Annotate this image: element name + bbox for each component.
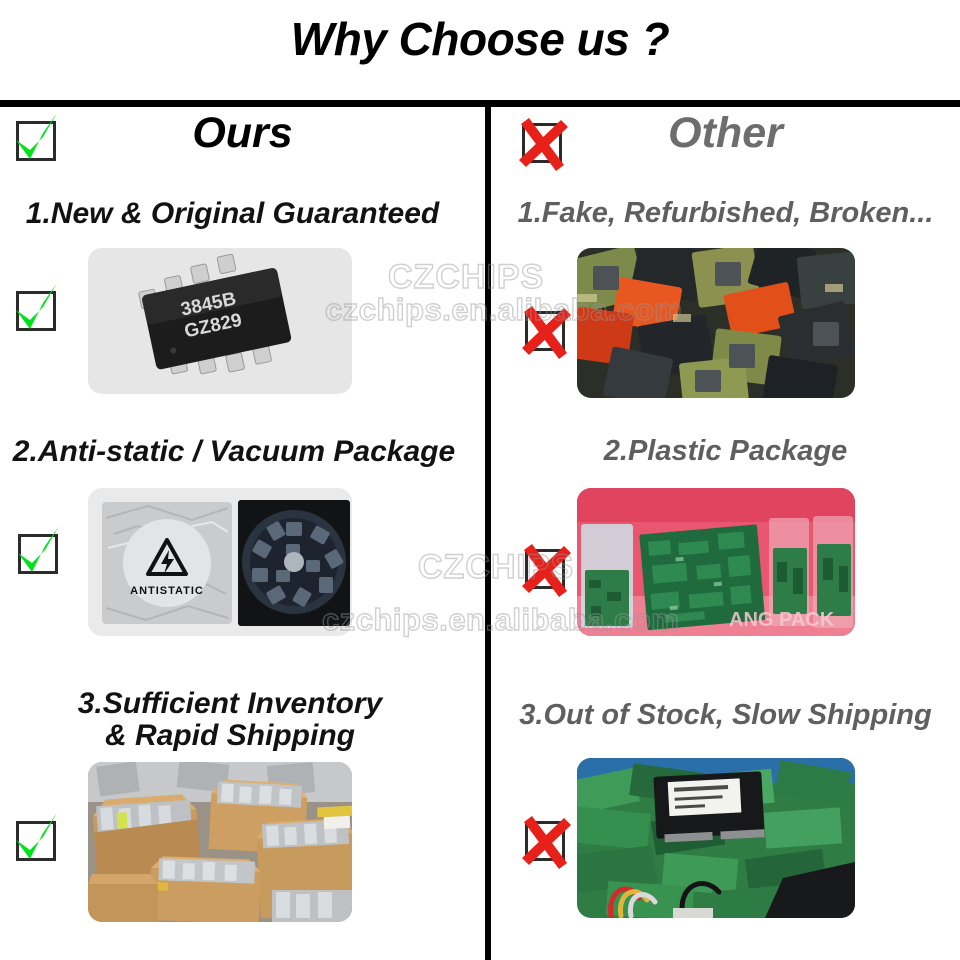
row-3-title-ours-line2: & Rapid Shipping [0, 720, 460, 752]
row-3-title-ours-line1: 3.Sufficient Inventory [0, 688, 460, 720]
page-title: Why Choose us ? [0, 12, 960, 66]
svg-text:ANG PACK: ANG PACK [729, 609, 835, 631]
watermark-brand: CZCHIPS [388, 258, 544, 297]
comparison-infographic: Why Choose us ? Ours Other 1.New & Origi… [0, 0, 960, 960]
column-label-other: Other [491, 109, 960, 158]
column-header-other: Other [491, 107, 960, 179]
row-3-title-other: 3.Out of Stock, Slow Shipping [491, 700, 960, 731]
row-1-title-other: 1.Fake, Refurbished, Broken... [491, 198, 960, 229]
photo-scrap-cpus [577, 248, 855, 398]
check-mark-icon [12, 528, 64, 580]
svg-text:ANTISTATIC: ANTISTATIC [130, 585, 204, 597]
photo-inventory-boxes [88, 762, 352, 922]
column-divider [485, 107, 491, 960]
photo-antistatic-vacuum-package: ANTISTATIC [88, 488, 352, 636]
check-mark-icon [10, 285, 62, 337]
photo-plastic-package: ANG PACK [577, 488, 855, 636]
header-divider [0, 100, 960, 107]
cross-mark-icon [519, 815, 571, 867]
cross-mark-icon [519, 543, 571, 595]
photo-new-original-chip: 3845B GZ829 [88, 248, 352, 394]
row-1-title-ours: 1.New & Original Guaranteed [0, 198, 465, 230]
row-3-title-ours: 3.Sufficient Inventory & Rapid Shipping [0, 688, 460, 753]
row-2-title-ours: 2.Anti-static / Vacuum Package [0, 436, 468, 468]
column-header-ours: Ours [0, 107, 485, 179]
row-2-title-other: 2.Plastic Package [491, 436, 960, 467]
photo-scrap-pcb-pile [577, 758, 855, 918]
check-mark-icon [10, 815, 62, 867]
column-label-ours: Ours [0, 109, 485, 158]
cross-mark-icon [519, 305, 571, 357]
